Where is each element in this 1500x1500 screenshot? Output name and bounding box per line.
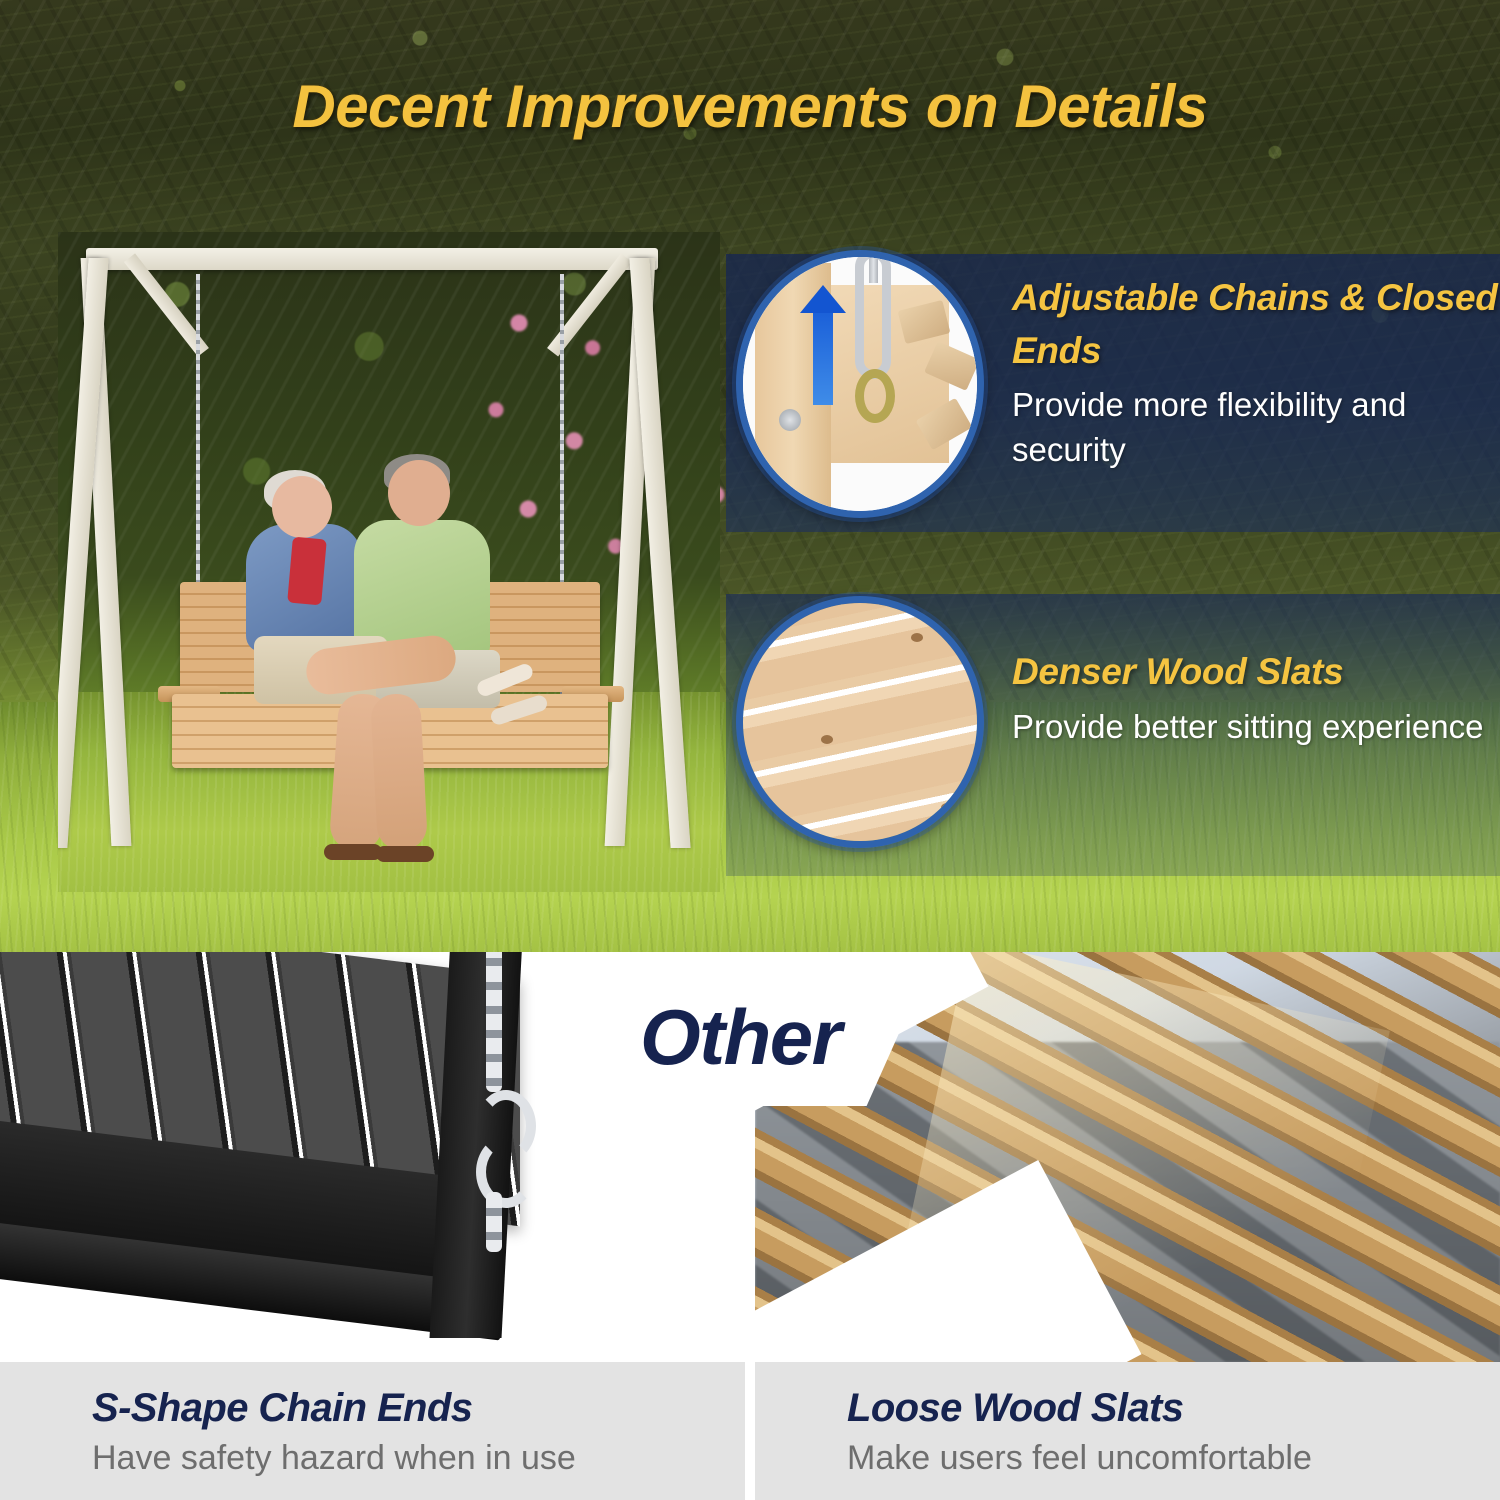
- caption-bar: S-Shape Chain Ends Have safety hazard wh…: [0, 1362, 1500, 1500]
- closed-chain-link: [855, 250, 891, 379]
- caption-subtitle: Have safety hazard when in use: [92, 1436, 745, 1480]
- feature-title: Adjustable Chains & Closed Ends: [1012, 272, 1500, 377]
- page-title: Decent Improvements on Details: [0, 72, 1500, 141]
- main-swing-photo: [58, 232, 720, 892]
- s-hook-icon: [470, 1090, 522, 1194]
- feature-description: Provide more flexibility and security: [1012, 383, 1500, 473]
- feature-callout-chains: Adjustable Chains & Closed Ends Provide …: [1012, 272, 1500, 473]
- leg-right: [370, 693, 428, 851]
- caption-loose-slats: Loose Wood Slats Make users feel uncomfo…: [755, 1362, 1500, 1500]
- wood-knot-3: [941, 803, 953, 812]
- caption-title: S-Shape Chain Ends: [92, 1384, 745, 1432]
- woman-head: [272, 476, 332, 538]
- blue-up-arrow-icon: [813, 309, 833, 405]
- man-head: [388, 460, 450, 526]
- sandal-ground-left: [324, 844, 382, 860]
- dense-slats-photo: [743, 603, 977, 841]
- feature-title: Denser Wood Slats: [1012, 646, 1483, 699]
- wood-knot-1: [911, 633, 923, 642]
- wood-knot-2: [821, 735, 833, 744]
- caption-subtitle: Make users feel uncomfortable: [847, 1436, 1500, 1480]
- chain-circle-photo: [743, 257, 977, 511]
- chain-upper: [486, 952, 502, 1092]
- caption-s-hook: S-Shape Chain Ends Have safety hazard wh…: [0, 1362, 745, 1500]
- chain-lower: [486, 1192, 502, 1252]
- feature-callout-slats: Denser Wood Slats Provide better sitting…: [1012, 646, 1483, 749]
- product-feature-infographic: Decent Improvements on Details: [0, 0, 1500, 1500]
- eye-bolt: [855, 369, 895, 423]
- slats-detail-circle: [736, 596, 984, 848]
- sandal-ground-right: [376, 846, 434, 862]
- feature-description: Provide better sitting experience: [1012, 705, 1483, 750]
- chain-detail-circle: [736, 250, 984, 518]
- hero-panel: Decent Improvements on Details: [0, 0, 1500, 952]
- a-frame-top-beam: [86, 248, 658, 270]
- screw-head-icon: [779, 409, 801, 431]
- woman-red-scarf: [287, 537, 327, 606]
- caption-title: Loose Wood Slats: [847, 1384, 1500, 1432]
- other-section-heading: Other: [640, 992, 841, 1083]
